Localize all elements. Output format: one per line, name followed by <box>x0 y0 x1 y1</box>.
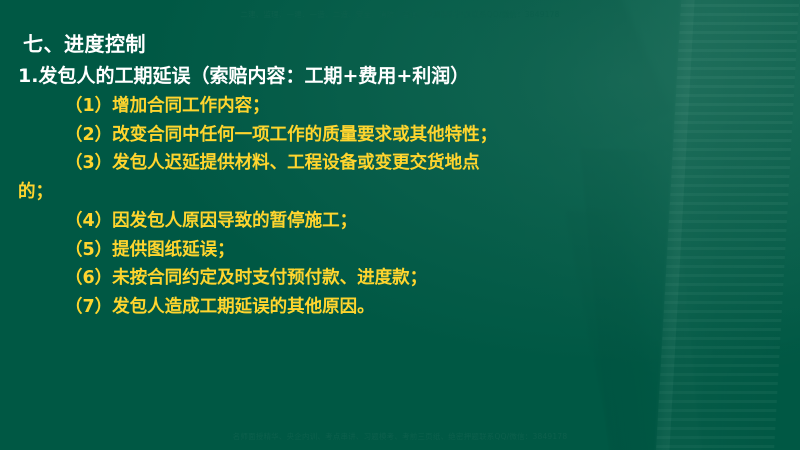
watermark-bottom: 名师面授精华、央企内训、考点串讲、习题模考、考前三页纸、绝密押题联系QQ/微信：… <box>0 431 800 442</box>
list-item: （3）发包人迟延提供材料、工程设备或变更交货地点的； <box>18 149 778 206</box>
list-item: （5）提供图纸延误； <box>18 236 778 265</box>
slide-content: 二建、监理、一建、一造、二造、安全、消防、咨询、检测课程押题联系QQ/微信：38… <box>0 0 800 450</box>
list-item: （4）因发包人原因导致的暂停施工； <box>18 207 778 236</box>
bullet-list: （1）增加合同工作内容； （2）改变合同中任何一项工作的质量要求或其他特性； （… <box>18 92 778 322</box>
presentation-slide: 二建、监理、一建、一造、二造、安全、消防、咨询、检测课程押题联系QQ/微信：38… <box>0 0 800 450</box>
list-item: （1）增加合同工作内容； <box>18 92 778 121</box>
list-item: （6）未按合同约定及时支付预付款、进度款； <box>18 264 778 293</box>
list-item: （7）发包人造成工期延误的其他原因。 <box>18 293 778 322</box>
watermark-top: 二建、监理、一建、一造、二造、安全、消防、咨询、检测课程押题联系QQ/微信：38… <box>0 9 800 20</box>
list-item: （2）改变合同中任何一项工作的质量要求或其他特性； <box>18 121 778 150</box>
section-subtitle: 1.发包人的工期延误（索赔内容：工期+费用+利润） <box>18 61 469 88</box>
section-title: 七、进度控制 <box>23 28 146 57</box>
